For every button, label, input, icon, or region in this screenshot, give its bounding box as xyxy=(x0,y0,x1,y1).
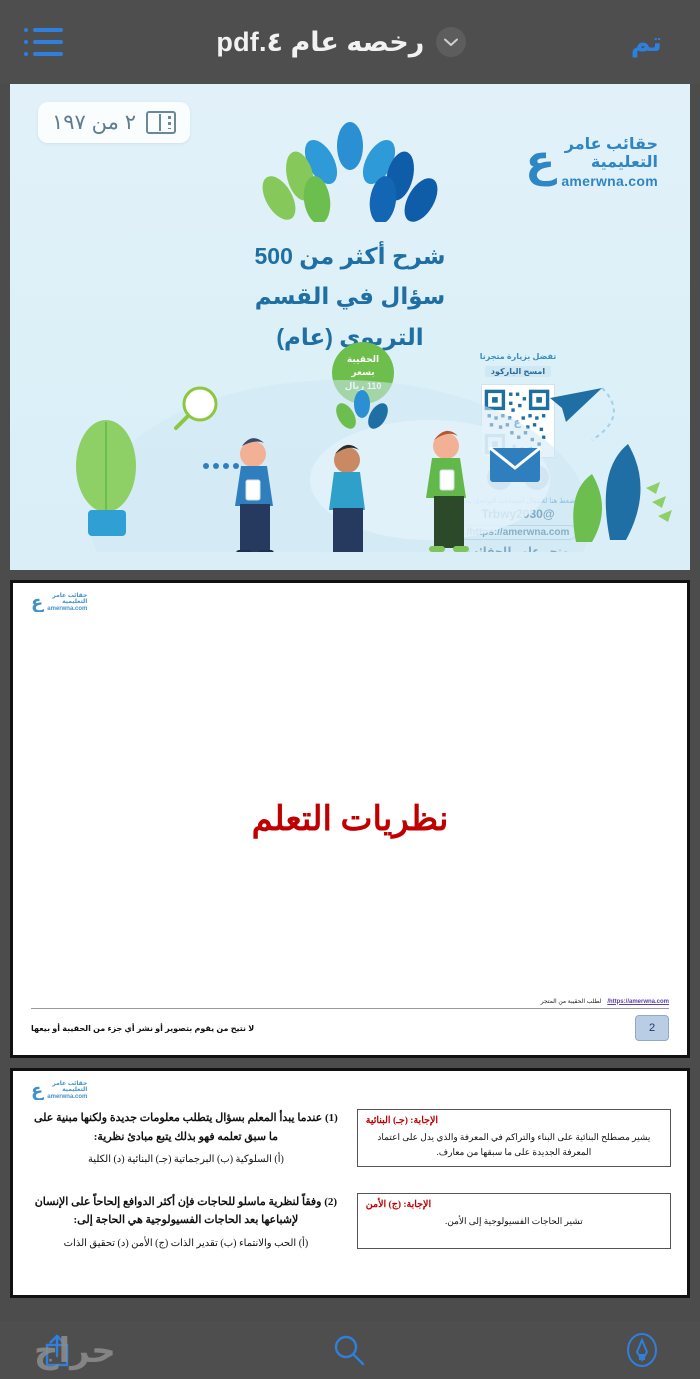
answer-box: الإجابة: (جـ) البنائية يشير مصطلح البنائ… xyxy=(357,1109,671,1167)
slide-watermark-logo: حقائب عامر التعليمية amerwna.com ع xyxy=(31,1081,87,1100)
pdf-page-cover[interactable]: ٢ من ١٩٧ حقائب عامر التعليمية amerwna.co… xyxy=(10,84,690,570)
menu-dot xyxy=(24,28,28,32)
qa-item-row: الإجابة: (ج) الأمن تشير الحاجات الفسيولو… xyxy=(29,1193,671,1249)
cover-brand-logo: حقائب عامر التعليمية amerwna.com ع xyxy=(525,136,658,189)
slide-page-number: 2 xyxy=(635,1015,669,1041)
page-indicator-text: ٢ من ١٩٧ xyxy=(52,110,136,135)
slide-title: نظريات التعلم xyxy=(13,583,687,1055)
pdf-page-qa-slide[interactable]: حقائب عامر التعليمية amerwna.com ع الإجا… xyxy=(10,1068,690,1298)
answer-explanation: يشير مصطلح البنائية على البناء والتراكم … xyxy=(366,1130,662,1161)
question-block: (1) عندما يبدأ المعلم بسؤال يتطلب معلوما… xyxy=(29,1109,343,1167)
cover-headline: شرح أكثر من 500 سؤال في القسم التربوي (ع… xyxy=(10,236,690,357)
menu-dot xyxy=(24,40,28,44)
brand-website: amerwna.com xyxy=(561,173,658,189)
question-text: (1) عندما يبدأ المعلم بسؤال يتطلب معلوما… xyxy=(29,1109,343,1146)
price-badge-line-1: الحقيبة xyxy=(347,353,379,367)
footer-store-link[interactable]: https://amerwna.com/ xyxy=(607,999,669,1005)
bottom-toolbar: حراج xyxy=(0,1321,700,1379)
brand-line-1: حقائب عامر xyxy=(561,136,658,154)
document-scroll-area[interactable]: ٢ من ١٩٧ حقائب عامر التعليمية amerwna.co… xyxy=(0,84,700,1321)
brand-line-2: التعليمية xyxy=(561,154,658,172)
brand-mark-icon: ع xyxy=(525,140,555,184)
watermark-mark-icon: ع xyxy=(31,1081,43,1099)
watermark-website: amerwna.com xyxy=(47,1094,87,1100)
cover-headline-line-1: شرح أكثر من 500 xyxy=(10,236,690,276)
qa-item-row: الإجابة: (جـ) البنائية يشير مصطلح البنائ… xyxy=(29,1109,671,1167)
menu-bar xyxy=(33,28,63,32)
answer-explanation: تشير الحاجات الفسيولوجية إلى الأمن. xyxy=(366,1214,662,1229)
footer-divider xyxy=(31,1008,669,1009)
leaf-petals-logo xyxy=(255,122,445,222)
question-options: (أ) السلوكية (ب) البرجماتية (جـ) البنائي… xyxy=(29,1154,343,1165)
pdf-page-title-slide[interactable]: حقائب عامر التعليمية amerwna.com ع نظريا… xyxy=(10,580,690,1058)
answer-label: الإجابة: (ج) الأمن xyxy=(366,1199,662,1210)
people-illustration xyxy=(10,370,690,570)
book-pages-icon xyxy=(146,111,176,134)
question-text: (2) وفقاً لنظرية ماسلو للحاجات فإن أكثر … xyxy=(29,1193,343,1230)
slide-footer: https://amerwna.com/ لطلب الحقيبة من الم… xyxy=(31,998,669,1041)
outline-list-icon[interactable] xyxy=(24,25,66,59)
share-icon[interactable] xyxy=(40,1332,74,1368)
menu-bar xyxy=(33,40,63,44)
menu-dot xyxy=(24,52,28,56)
search-icon[interactable] xyxy=(332,1333,366,1367)
cover-headline-line-2: سؤال في القسم xyxy=(10,276,690,316)
chevron-down-icon[interactable] xyxy=(436,27,466,57)
question-block: (2) وفقاً لنظرية ماسلو للحاجات فإن أكثر … xyxy=(29,1193,343,1249)
menu-bar xyxy=(33,52,63,56)
answer-box: الإجابة: (ج) الأمن تشير الحاجات الفسيولو… xyxy=(357,1193,671,1249)
qr-visit-text: تفضل بزيارة متجرنا xyxy=(458,352,578,361)
pen-markup-icon[interactable] xyxy=(624,1332,660,1368)
footer-prefix-text: لطلب الحقيبة من المتجر xyxy=(541,998,602,1005)
done-button[interactable]: تم xyxy=(617,21,676,64)
document-title-group[interactable]: رخصه عام ٤.pdf xyxy=(216,27,466,58)
footer-copyright-note: لا نتيح من يقوم بتصوير أو نشر أي جزء من … xyxy=(31,1024,254,1033)
answer-label: الإجابة: (جـ) البنائية xyxy=(366,1115,662,1126)
pdf-viewer-app: تم رخصه عام ٤.pdf ٢ من ١٩٧ حقائب عامر xyxy=(0,0,700,1379)
page-title: رخصه عام ٤.pdf xyxy=(216,27,424,58)
top-toolbar: تم رخصه عام ٤.pdf xyxy=(0,0,700,84)
page-indicator-badge: ٢ من ١٩٧ xyxy=(38,102,190,143)
question-options: (أ) الحب والانتماء (ب) تقدير الذات (ج) ا… xyxy=(29,1238,343,1249)
